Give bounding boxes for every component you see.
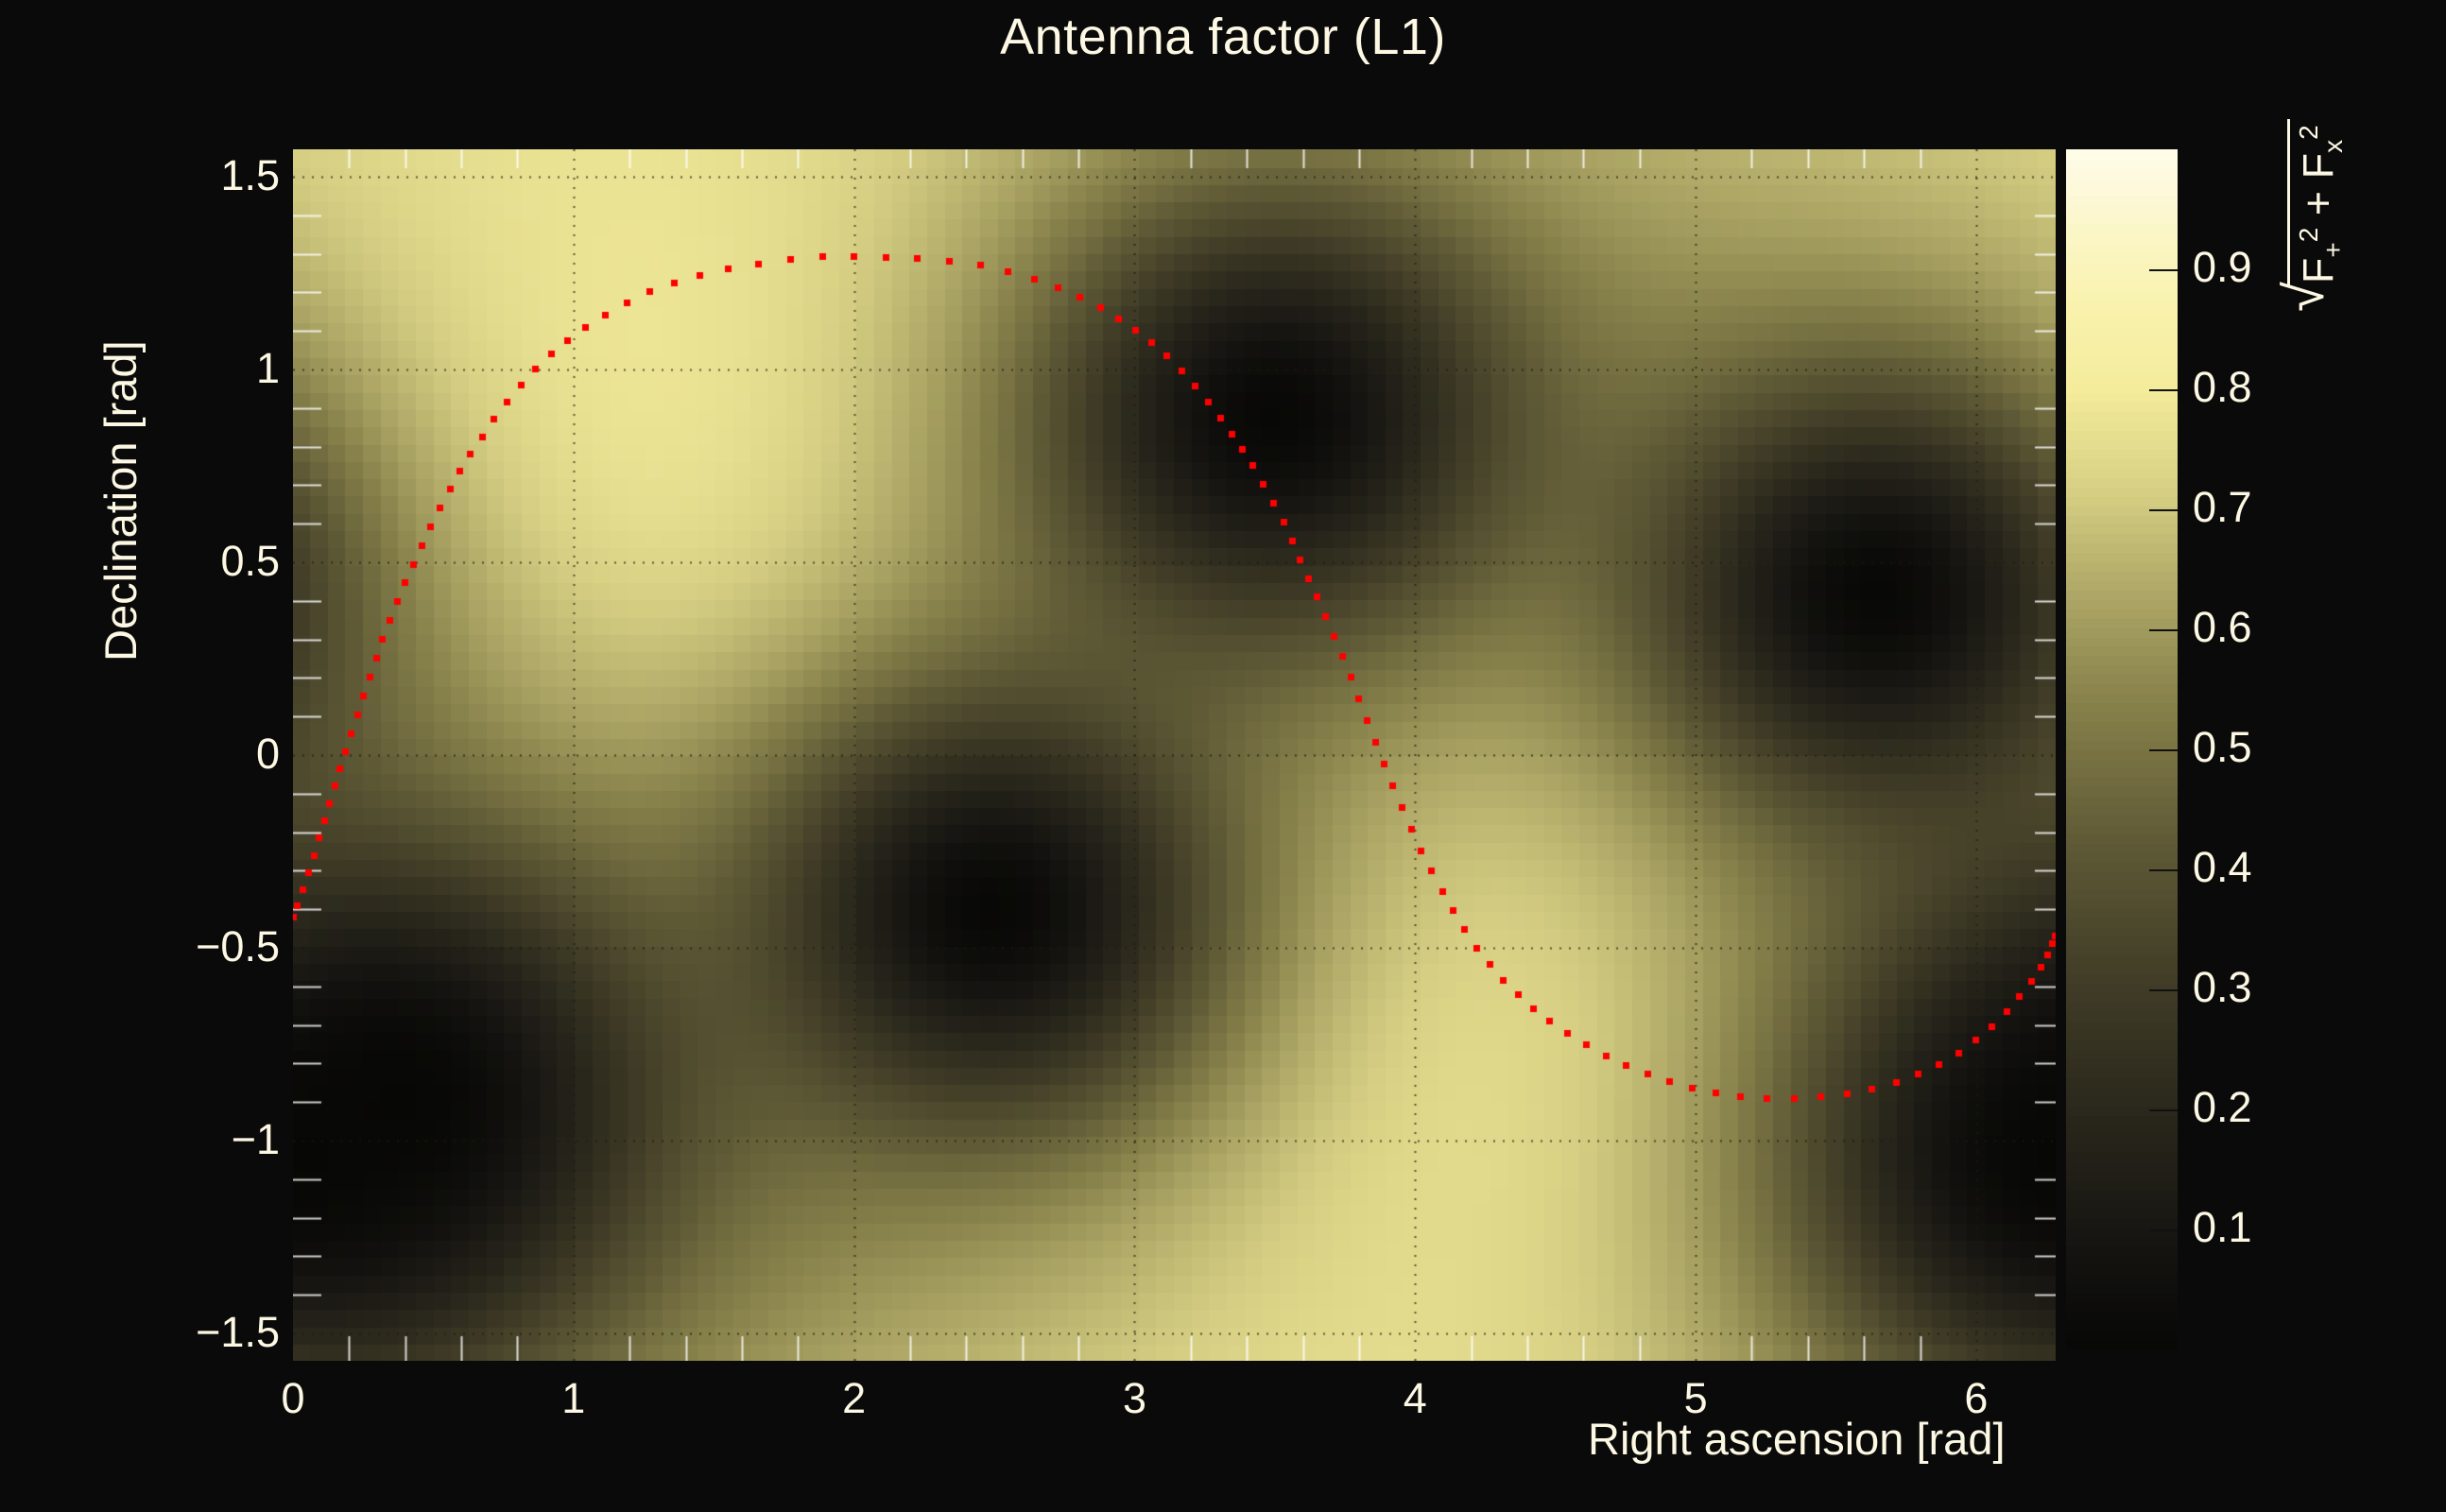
term2-base: F	[2294, 153, 2342, 180]
y-tick-label: −0.5	[196, 922, 280, 971]
colorbar-tick-mark	[2149, 749, 2178, 751]
x-axis-title: Right ascension [rad]	[1588, 1413, 2006, 1465]
term2-superscript: 2	[2294, 125, 2323, 140]
x-tick-label: 3	[1096, 1374, 1172, 1423]
term1-superscript: 2	[2294, 228, 2323, 243]
colorbar-tick-mark	[2149, 989, 2178, 991]
term1-subscript: +	[2318, 242, 2348, 257]
colorbar-tick-mark	[2149, 1109, 2178, 1111]
colorbar-tick-label: 0.5	[2193, 723, 2252, 772]
term2-subscript: x	[2318, 140, 2348, 153]
y-tick-label: −1.5	[196, 1308, 280, 1357]
colorbar-tick-label: 0.3	[2193, 963, 2252, 1012]
colorbar-tick-label: 0.4	[2193, 843, 2252, 892]
radical-icon: √	[2283, 282, 2327, 312]
x-tick-label: 2	[817, 1374, 892, 1423]
x-tick-label: 0	[255, 1374, 331, 1423]
y-tick-label: 0	[256, 730, 280, 779]
x-tick-label: 1	[536, 1374, 611, 1423]
chart-canvas-root: Antenna factor (L1) −1.5−1−0.500.511.5 0…	[0, 0, 2446, 1512]
y-tick-label: −1	[232, 1115, 280, 1164]
colorbar-tick-label: 0.8	[2193, 363, 2252, 412]
x-tick-label: 4	[1377, 1374, 1453, 1423]
colorbar	[2066, 149, 2178, 1349]
y-tick-label: 0.5	[220, 537, 280, 586]
page-title: Antenna factor (L1)	[0, 8, 2446, 66]
colorbar-tick-label: 0.7	[2193, 483, 2252, 532]
colorbar-tick-mark	[2149, 1229, 2178, 1231]
colorbar-tick-mark	[2149, 629, 2178, 631]
term1-base: F	[2294, 258, 2342, 284]
colorbar-title-expression: F+2 + Fx2	[2287, 119, 2347, 285]
grid-and-galactic-plane-overlay	[293, 149, 2056, 1361]
colorbar-tick-label: 0.2	[2193, 1083, 2252, 1132]
y-tick-label: 1	[256, 344, 280, 393]
y-axis-title: Declination [rad]	[95, 340, 146, 661]
colorbar-tick-mark	[2149, 269, 2178, 271]
plus-operator: +	[2294, 191, 2342, 215]
plot-area	[293, 149, 2056, 1361]
colorbar-tick-label: 0.9	[2193, 243, 2252, 292]
y-tick-label: 1.5	[220, 151, 280, 200]
colorbar-tick-label: 0.6	[2193, 603, 2252, 652]
colorbar-tick-mark	[2149, 509, 2178, 511]
colorbar-title: √ F+2 + Fx2	[2287, 119, 2347, 312]
colorbar-tick-mark	[2149, 869, 2178, 871]
colorbar-tick-mark	[2149, 389, 2178, 391]
colorbar-tick-label: 0.1	[2193, 1203, 2252, 1252]
